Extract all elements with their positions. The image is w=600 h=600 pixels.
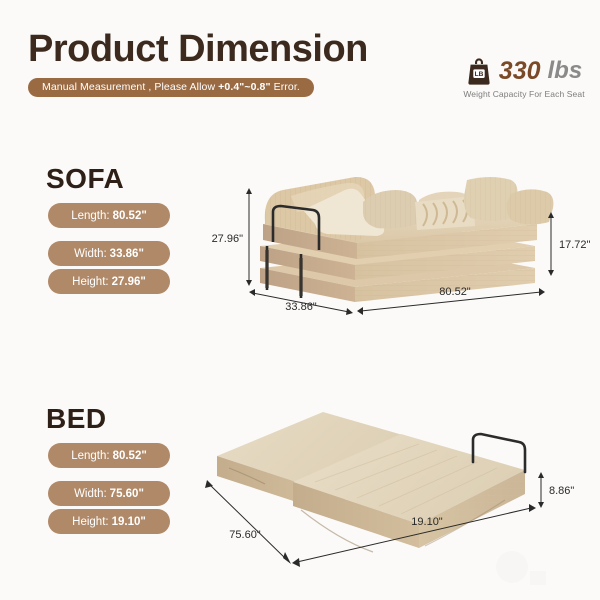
bed-spec-width: Width:75.60" bbox=[48, 481, 170, 506]
disclaimer-suffix: Error. bbox=[271, 81, 300, 93]
sofa-spec-width-label: Width: bbox=[74, 248, 107, 260]
bed-spec-height-label: Height: bbox=[72, 516, 108, 528]
sofa-illustration: 27.96" 17.72" 33.86" 80.52" bbox=[205, 150, 600, 315]
sofa-spec-height-label: Height: bbox=[72, 276, 108, 288]
bed-callout-length: 19.10" bbox=[411, 516, 443, 528]
bed-callout-width: 75.60" bbox=[229, 529, 261, 541]
sofa-spec-length-value: 80.52" bbox=[113, 210, 147, 222]
weight-capacity-row: LB 330 lbs bbox=[452, 55, 596, 87]
bed-spec-width-value: 75.60" bbox=[110, 488, 144, 500]
weight-capacity-unit: lbs bbox=[548, 59, 583, 83]
sofa-spec-height-value: 27.96" bbox=[112, 276, 146, 288]
measurement-disclaimer-banner: Manual Measurement , Please Allow +0.4"~… bbox=[28, 78, 314, 97]
weight-capacity-value: 330 bbox=[499, 59, 541, 84]
disclaimer-prefix: Manual Measurement , Please Allow bbox=[42, 81, 218, 93]
sofa-spec-height: Height:27.96" bbox=[48, 269, 170, 294]
bed-spec-length-label: Length: bbox=[71, 450, 109, 462]
bed-spec-height-value: 19.10" bbox=[112, 516, 146, 528]
bed-spec-length: Length:80.52" bbox=[48, 443, 170, 468]
section-heading-bed: BED bbox=[46, 403, 107, 435]
sofa-spec-length-label: Length: bbox=[71, 210, 109, 222]
sofa-spec-length: Length:80.52" bbox=[48, 203, 170, 228]
bed-callout-height-right: 8.86" bbox=[549, 485, 574, 497]
corner-watermark bbox=[490, 545, 560, 590]
bed-spec-height: Height:19.10" bbox=[48, 509, 170, 534]
sofa-spec-width-value: 33.86" bbox=[110, 248, 144, 260]
lb-icon-label: LB bbox=[474, 71, 483, 78]
sofa-spec-width: Width:33.86" bbox=[48, 241, 170, 266]
weight-capacity-caption: Weight Capacity For Each Seat bbox=[452, 89, 596, 99]
sofa-callout-height-right: 17.72" bbox=[559, 239, 591, 251]
sofa-callout-depth: 33.86" bbox=[285, 301, 317, 313]
disclaimer-tolerance: +0.4"~0.8" bbox=[218, 81, 270, 93]
weight-capacity-badge: LB 330 lbs Weight Capacity For Each Seat bbox=[452, 55, 596, 99]
bed-spec-width-label: Width: bbox=[74, 488, 107, 500]
page-title: Product Dimension bbox=[28, 28, 368, 71]
bed-spec-length-value: 80.52" bbox=[113, 450, 147, 462]
sofa-callout-length: 80.52" bbox=[439, 286, 471, 298]
weight-lb-icon: LB bbox=[466, 57, 492, 85]
section-heading-sofa: SOFA bbox=[46, 163, 124, 195]
sofa-callout-height-left: 27.96" bbox=[212, 233, 244, 245]
product-dimension-infographic: Product Dimension Manual Measurement , P… bbox=[0, 0, 600, 600]
